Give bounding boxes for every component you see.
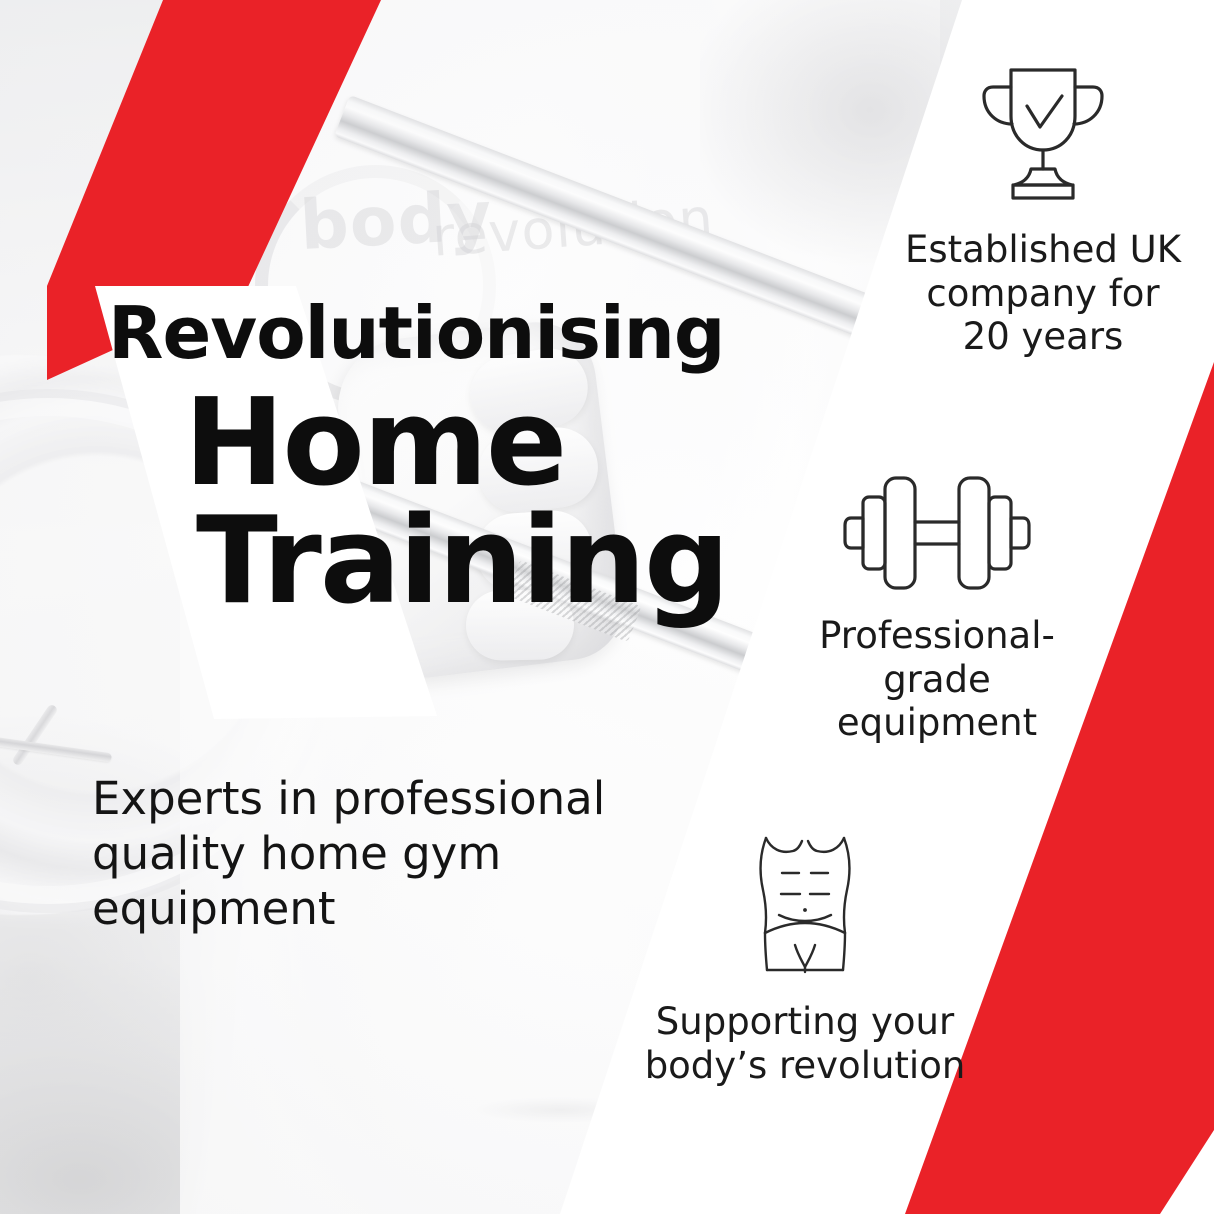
headline-line-1: Revolutionising [108, 300, 788, 368]
torso-abs-icon [739, 832, 871, 982]
feature-item-established-uk: Established UK company for 20 years [888, 60, 1198, 359]
trophy-check-icon [955, 60, 1131, 210]
headline-line-3: Training [196, 506, 788, 619]
feature-label: Supporting your body’s revolution [640, 1000, 970, 1087]
dumbbell-icon [839, 470, 1035, 596]
feature-item-professional-grade: Professional-grade equipment [772, 470, 1102, 745]
feature-item-body-revolution: Supporting your body’s revolution [640, 832, 970, 1087]
headline-line-2: Home [184, 388, 788, 501]
feature-label: Established UK company for 20 years [888, 228, 1198, 359]
promo-banner: body revolution Revolutionising Home Tra… [0, 0, 1214, 1214]
feature-label: Professional-grade equipment [772, 614, 1102, 745]
headline: Revolutionising Home Training [108, 300, 788, 619]
sub-copy: Experts in professional quality home gym… [92, 772, 662, 937]
